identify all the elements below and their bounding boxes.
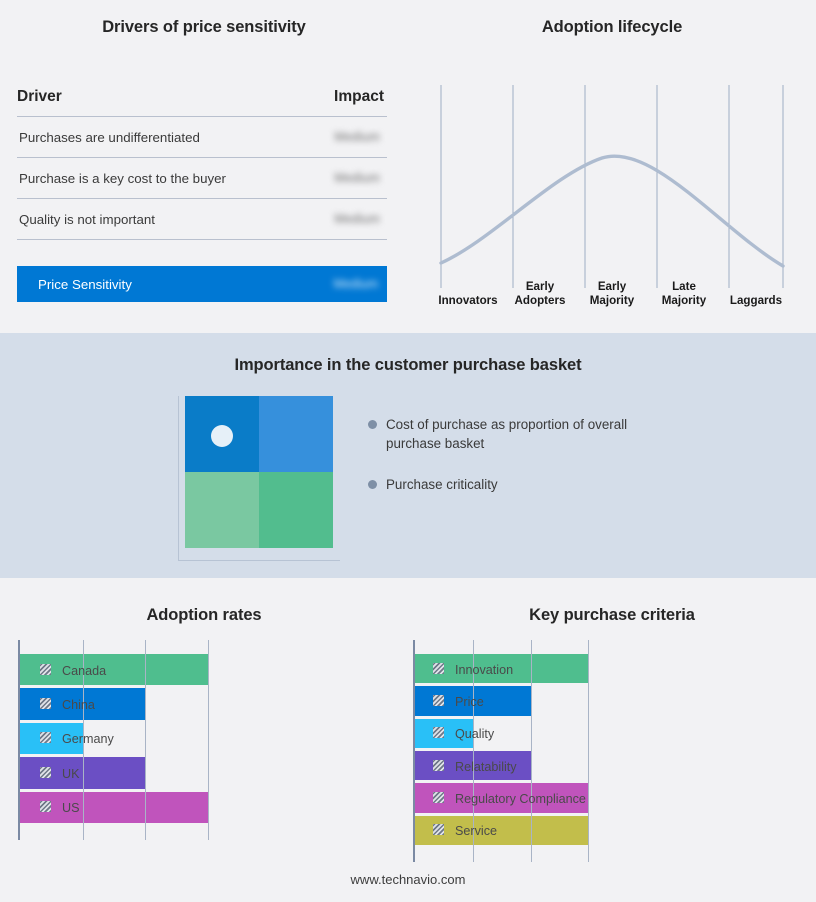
quadrant-chart	[178, 396, 340, 561]
impact-value: Medium	[334, 171, 380, 185]
gridline	[145, 640, 146, 840]
legend-swatch-icon	[433, 695, 444, 706]
legend-item: Price	[433, 695, 586, 727]
legend-label: Price	[455, 695, 484, 709]
chart-legend: CanadaChinaGermanyUKUS	[40, 640, 114, 840]
stage-line-2: Majority	[576, 294, 648, 308]
quadrant-cell-top-right	[259, 396, 333, 472]
legend-label: Regulatory Compliance	[455, 792, 586, 806]
lifecycle-stage-labels: Innovators Early Adopters Early Majority…	[432, 260, 792, 310]
footer-url: www.technavio.com	[0, 872, 816, 887]
table-header-row: Driver Impact	[17, 88, 387, 117]
lifecycle-chart: Innovators Early Adopters Early Majority…	[432, 80, 792, 312]
legend-label: China	[62, 698, 95, 712]
legend-item: UK	[40, 767, 114, 801]
bottom-band: Adoption rates CanadaChinaGermanyUKUS Ke…	[0, 578, 816, 902]
position-dot-icon	[211, 425, 233, 447]
driver-label: Purchases are undifferentiated	[19, 130, 200, 145]
adoption-rates-chart: CanadaChinaGermanyUKUS	[18, 640, 388, 840]
basket-title: Importance in the customer purchase bask…	[0, 356, 816, 375]
legend-swatch-icon	[433, 824, 444, 835]
impact-value-highlighted: Medium	[334, 277, 378, 291]
stage-line-1: Early	[504, 280, 576, 294]
stage-label-laggards: Laggards	[720, 294, 792, 310]
legend-item: Canada	[40, 664, 114, 698]
legend-label: Innovation	[455, 663, 513, 677]
stage-label-early-adopters: Early Adopters	[504, 280, 576, 310]
lifecycle-panel: Adoption lifecycle Innovators	[408, 0, 816, 333]
key-criteria-title: Key purchase criteria	[408, 606, 816, 625]
chart-legend: InnovationPriceQualityRelatabilityRegula…	[433, 640, 586, 862]
legend-label: US	[62, 801, 80, 815]
table-row-highlighted: Price Sensitivity Medium	[17, 266, 387, 302]
legend-swatch-icon	[433, 760, 444, 771]
column-header-impact: Impact	[334, 88, 384, 106]
gridline	[208, 640, 209, 840]
key-criteria-panel: Key purchase criteria InnovationPriceQua…	[408, 578, 816, 902]
stage-label-late-majority: Late Majority	[648, 280, 720, 310]
legend-swatch-icon	[433, 663, 444, 674]
driver-label: Purchase is a key cost to the buyer	[19, 171, 226, 186]
legend-label: Relatability	[455, 760, 517, 774]
impact-value: Medium	[334, 212, 380, 226]
bullet-icon	[368, 480, 377, 489]
legend-item: Regulatory Compliance	[433, 792, 586, 824]
legend-item: US	[40, 801, 114, 835]
quadrant-grid	[185, 396, 333, 548]
driver-label: Quality is not important	[19, 212, 155, 227]
stage-line-2: Adopters	[504, 294, 576, 308]
drivers-table: Driver Impact Purchases are undifferenti…	[17, 88, 387, 240]
legend-item: Service	[433, 824, 586, 856]
legend-swatch-icon	[433, 727, 444, 738]
legend-item: Relatability	[433, 760, 586, 792]
purchase-basket-band: Importance in the customer purchase bask…	[0, 333, 816, 578]
legend-label: Cost of purchase as proportion of overal…	[386, 415, 648, 453]
legend-swatch-icon	[40, 801, 51, 812]
legend-label: UK	[62, 767, 80, 781]
top-band: Drivers of price sensitivity Driver Impa…	[0, 0, 816, 333]
adoption-rates-panel: Adoption rates CanadaChinaGermanyUKUS	[0, 578, 408, 902]
legend-item: Purchase criticality	[368, 475, 668, 494]
stage-line-2: Innovators	[432, 294, 504, 308]
legend-label: Germany	[62, 732, 114, 746]
key-criteria-chart: InnovationPriceQualityRelatabilityRegula…	[413, 640, 813, 862]
legend-item: Quality	[433, 727, 586, 759]
lifecycle-bell-curve	[441, 156, 783, 266]
quadrant-cell-top-left	[185, 396, 259, 472]
bullet-icon	[368, 420, 377, 429]
legend-label: Service	[455, 824, 497, 838]
drivers-panel: Drivers of price sensitivity Driver Impa…	[0, 0, 408, 333]
stage-label-innovators: Innovators	[432, 294, 504, 310]
legend-item: Germany	[40, 732, 114, 766]
table-row: Purchases are undifferentiated Medium	[17, 117, 387, 158]
quadrant-cell-bottom-left	[185, 472, 259, 548]
stage-label-early-majority: Early Majority	[576, 280, 648, 310]
impact-value: Medium	[334, 130, 380, 144]
legend-item: China	[40, 698, 114, 732]
basket-legend: Cost of purchase as proportion of overal…	[368, 415, 668, 516]
lifecycle-gridlines	[441, 85, 783, 288]
stage-line-1: Early	[576, 280, 648, 294]
legend-item: Innovation	[433, 663, 586, 695]
legend-swatch-icon	[40, 698, 51, 709]
adoption-rates-title: Adoption rates	[0, 606, 408, 625]
driver-label-highlighted: Price Sensitivity	[38, 277, 132, 292]
drivers-title: Drivers of price sensitivity	[0, 18, 408, 37]
gridline	[588, 640, 589, 862]
quadrant-y-axis	[178, 396, 179, 561]
quadrant-cell-bottom-right	[259, 472, 333, 548]
legend-label: Purchase criticality	[386, 475, 498, 494]
quadrant-x-axis	[178, 560, 340, 561]
legend-swatch-icon	[40, 767, 51, 778]
legend-item: Cost of purchase as proportion of overal…	[368, 415, 668, 453]
stage-line-2: Majority	[648, 294, 720, 308]
table-row: Quality is not important Medium	[17, 199, 387, 240]
legend-label: Quality	[455, 727, 494, 741]
legend-swatch-icon	[40, 664, 51, 675]
stage-line-2: Laggards	[720, 294, 792, 308]
stage-line-1: Late	[648, 280, 720, 294]
legend-swatch-icon	[433, 792, 444, 803]
column-header-driver: Driver	[17, 88, 62, 106]
legend-swatch-icon	[40, 732, 51, 743]
legend-label: Canada	[62, 664, 106, 678]
table-row: Purchase is a key cost to the buyer Medi…	[17, 158, 387, 199]
lifecycle-title: Adoption lifecycle	[408, 18, 816, 37]
